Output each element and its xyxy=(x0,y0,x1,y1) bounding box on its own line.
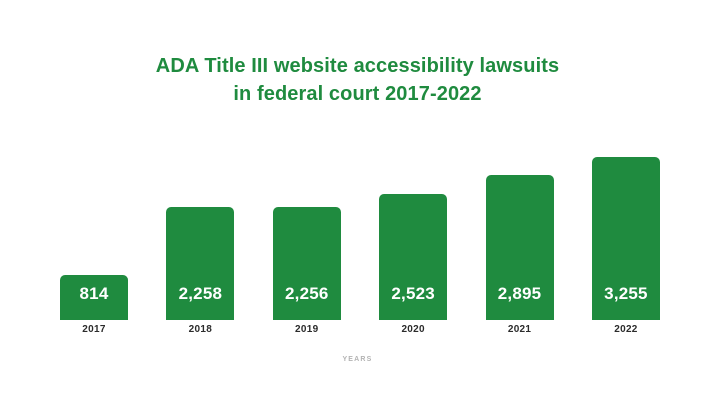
x-tick-2018: 2018 xyxy=(166,324,234,335)
bar-series: 814 2,258 2,256 2,523 2,895 xyxy=(60,140,660,320)
bar-2019[interactable]: 2,256 xyxy=(273,207,341,320)
bar-2018[interactable]: 2,258 xyxy=(166,207,234,320)
bar-2020[interactable]: 2,523 xyxy=(379,194,447,320)
chart-container: ADA Title III website accessibility laws… xyxy=(0,0,715,404)
bar-slot-2021: 2,895 xyxy=(486,140,554,320)
bar-slot-2019: 2,256 xyxy=(273,140,341,320)
chart-title: ADA Title III website accessibility laws… xyxy=(0,52,715,108)
plot-area: 814 2,258 2,256 2,523 2,895 xyxy=(60,140,660,320)
bar-2017[interactable]: 814 xyxy=(60,275,128,320)
bar-slot-2022: 3,255 xyxy=(592,140,660,320)
chart-title-line-2: in federal court 2017-2022 xyxy=(0,80,715,108)
bar-value-2020: 2,523 xyxy=(391,284,435,320)
x-tick-2022: 2022 xyxy=(592,324,660,335)
x-tick-2017: 2017 xyxy=(60,324,128,335)
bar-slot-2020: 2,523 xyxy=(379,140,447,320)
x-axis-tick-labels: 2017 2018 2019 2020 2021 2022 xyxy=(60,324,660,335)
x-tick-2019: 2019 xyxy=(273,324,341,335)
x-tick-2021: 2021 xyxy=(486,324,554,335)
bar-2021[interactable]: 2,895 xyxy=(486,175,554,320)
bar-2022[interactable]: 3,255 xyxy=(592,157,660,320)
bar-value-2018: 2,258 xyxy=(179,284,223,320)
bar-value-2017: 814 xyxy=(80,284,109,320)
bar-slot-2017: 814 xyxy=(60,140,128,320)
x-axis-title: YEARS xyxy=(0,356,715,363)
bar-value-2021: 2,895 xyxy=(498,284,542,320)
x-tick-2020: 2020 xyxy=(379,324,447,335)
bar-slot-2018: 2,258 xyxy=(166,140,234,320)
chart-title-line-1: ADA Title III website accessibility laws… xyxy=(156,55,559,77)
bar-value-2019: 2,256 xyxy=(285,284,329,320)
bar-value-2022: 3,255 xyxy=(604,284,648,320)
